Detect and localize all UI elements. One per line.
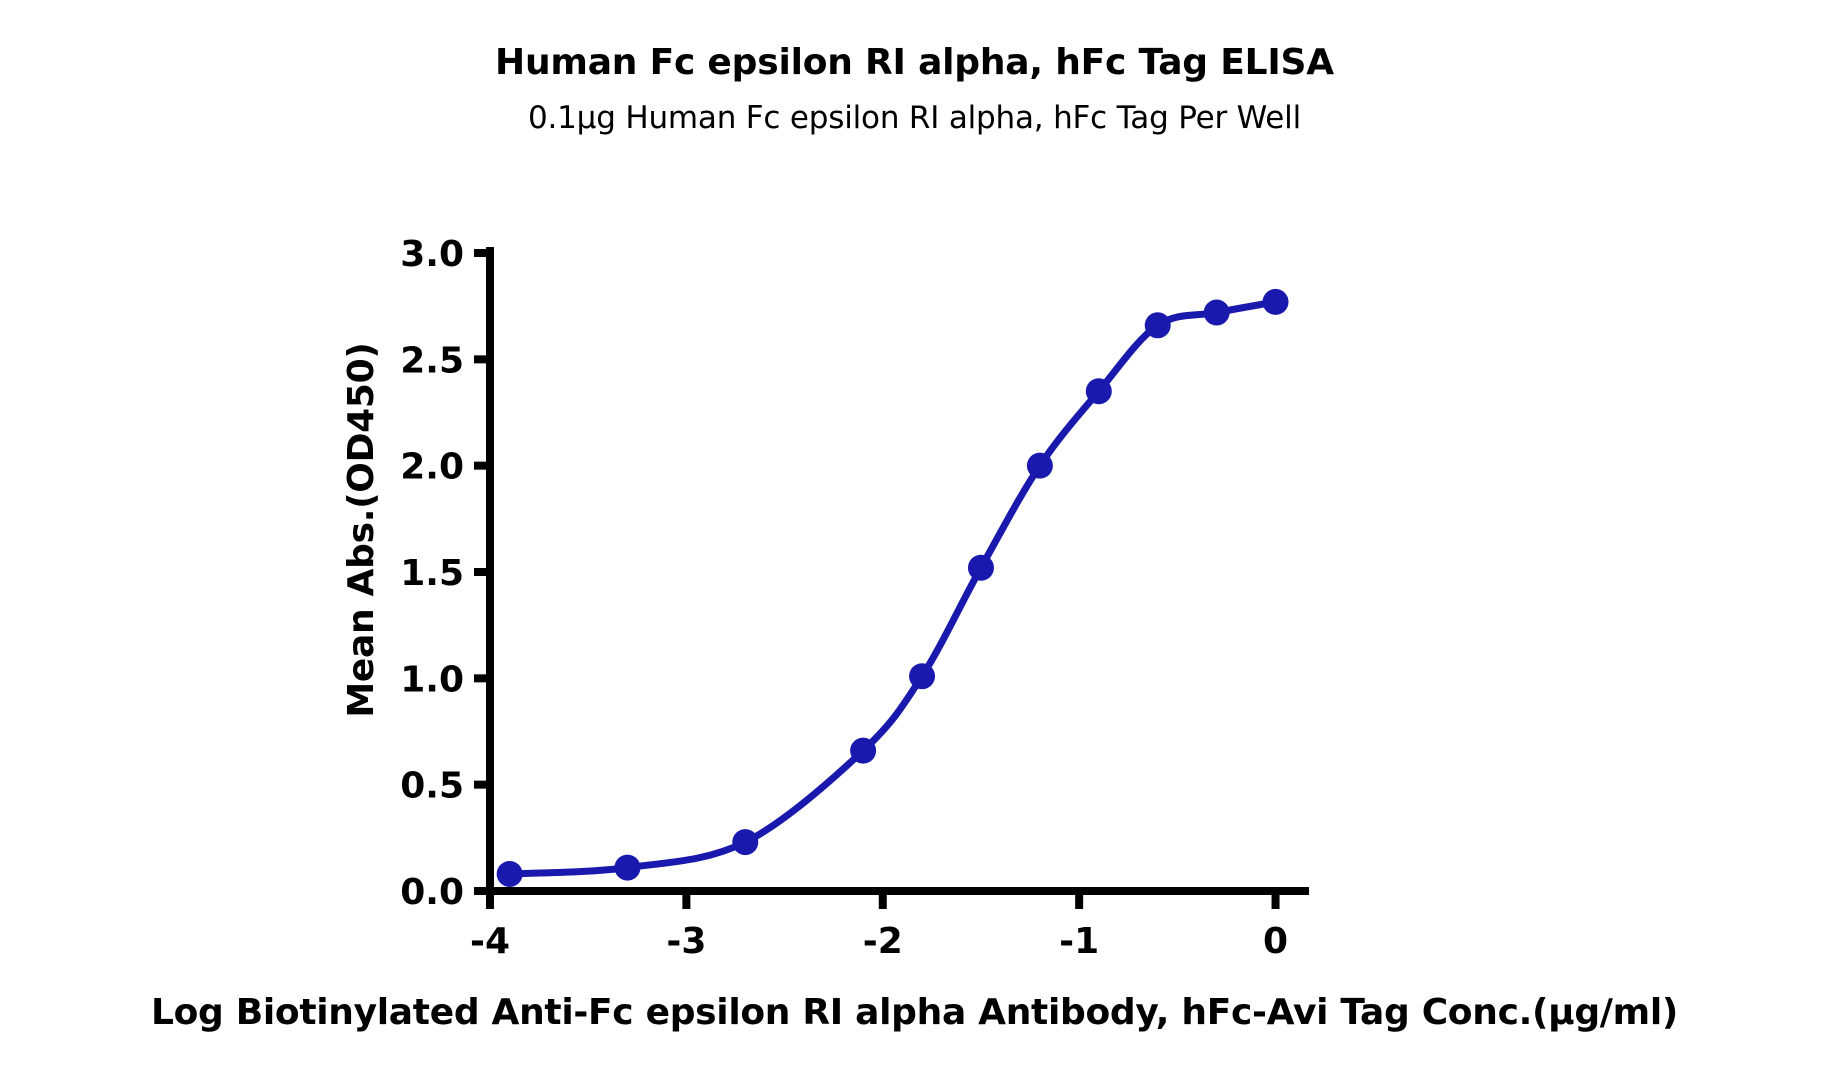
data-point [909,663,935,689]
data-point [1027,453,1053,479]
data-point-group [497,289,1289,887]
data-curve [510,302,1276,874]
data-point [732,829,758,855]
x-tick-label-group: -4-3-2-10 [470,921,1288,962]
data-point [1145,312,1171,338]
y-tick-label: 0.0 [400,872,464,913]
data-point [614,855,640,881]
x-tick-label: -2 [863,921,903,962]
y-tick-label-group: 0.00.51.01.52.02.53.0 [400,234,464,913]
data-point [497,861,523,887]
data-point [850,738,876,764]
tick-marks [474,253,1276,909]
plot-area: 0.00.51.01.52.02.53.0 -4-3-2-10 [0,0,1829,1086]
x-tick-label: -3 [666,921,706,962]
axis-lines [486,247,1309,891]
y-tick-label: 1.0 [400,659,464,700]
y-tick-label: 3.0 [400,234,464,275]
x-tick-label: -1 [1059,921,1099,962]
data-point [968,555,994,581]
x-tick-label: 0 [1263,921,1288,962]
y-tick-label: 2.0 [400,447,464,488]
x-tick-label: -4 [470,921,510,962]
data-point [1263,289,1289,315]
elisa-chart-figure: Human Fc epsilon RI alpha, hFc Tag ELISA… [0,0,1829,1086]
x-axis-title: Log Biotinylated Anti-Fc epsilon RI alph… [0,992,1829,1033]
y-tick-label: 1.5 [400,553,464,594]
data-point [1086,378,1112,404]
data-point [1204,300,1230,326]
y-tick-label: 0.5 [400,766,464,807]
y-tick-label: 2.5 [400,340,464,381]
